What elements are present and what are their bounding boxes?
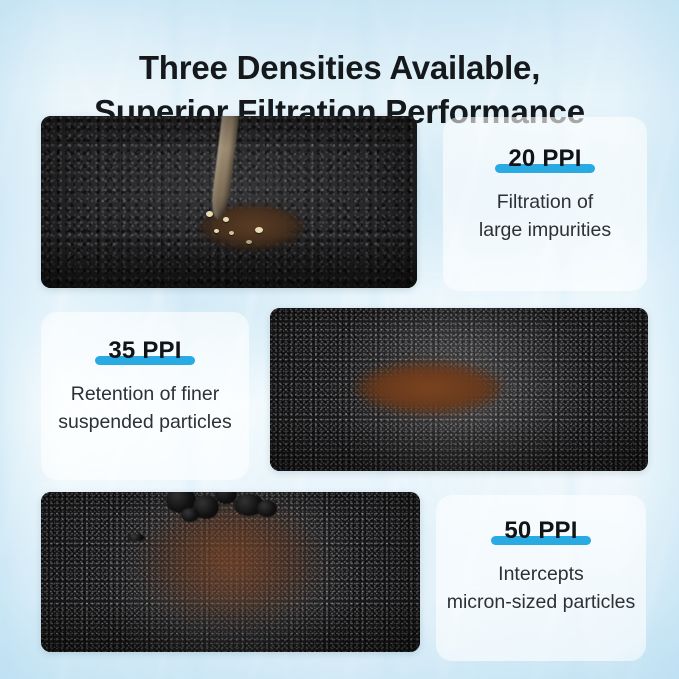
product-feature-poster: Three Densities Available, Superior Filt… [0, 0, 679, 679]
photo-3-shading [41, 492, 420, 652]
feature-block-2: 35 PPI Retention of finer suspended part… [41, 338, 249, 437]
ppi-badge-1: 20 PPI [504, 146, 585, 172]
ppi-label: 35 PPI [108, 338, 181, 364]
feature-block-3: 50 PPI Intercepts micron-sized particles [430, 518, 652, 617]
feature-photo-3 [41, 492, 420, 652]
photo-2-shading [270, 308, 648, 471]
ppi-label: 20 PPI [508, 146, 581, 172]
feature-description: Filtration of large impurities [443, 189, 647, 244]
feature-photo-1 [41, 116, 417, 288]
ppi-badge-3: 50 PPI [500, 518, 581, 544]
feature-block-1: 20 PPI Filtration of large impurities [443, 146, 647, 245]
ppi-label: 50 PPI [504, 518, 577, 544]
feature-description: Intercepts micron-sized particles [430, 561, 652, 616]
photo-1-shading [41, 116, 417, 288]
feature-description: Retention of finer suspended particles [41, 381, 249, 436]
feature-photo-2 [270, 308, 648, 471]
ppi-badge-2: 35 PPI [104, 338, 185, 364]
